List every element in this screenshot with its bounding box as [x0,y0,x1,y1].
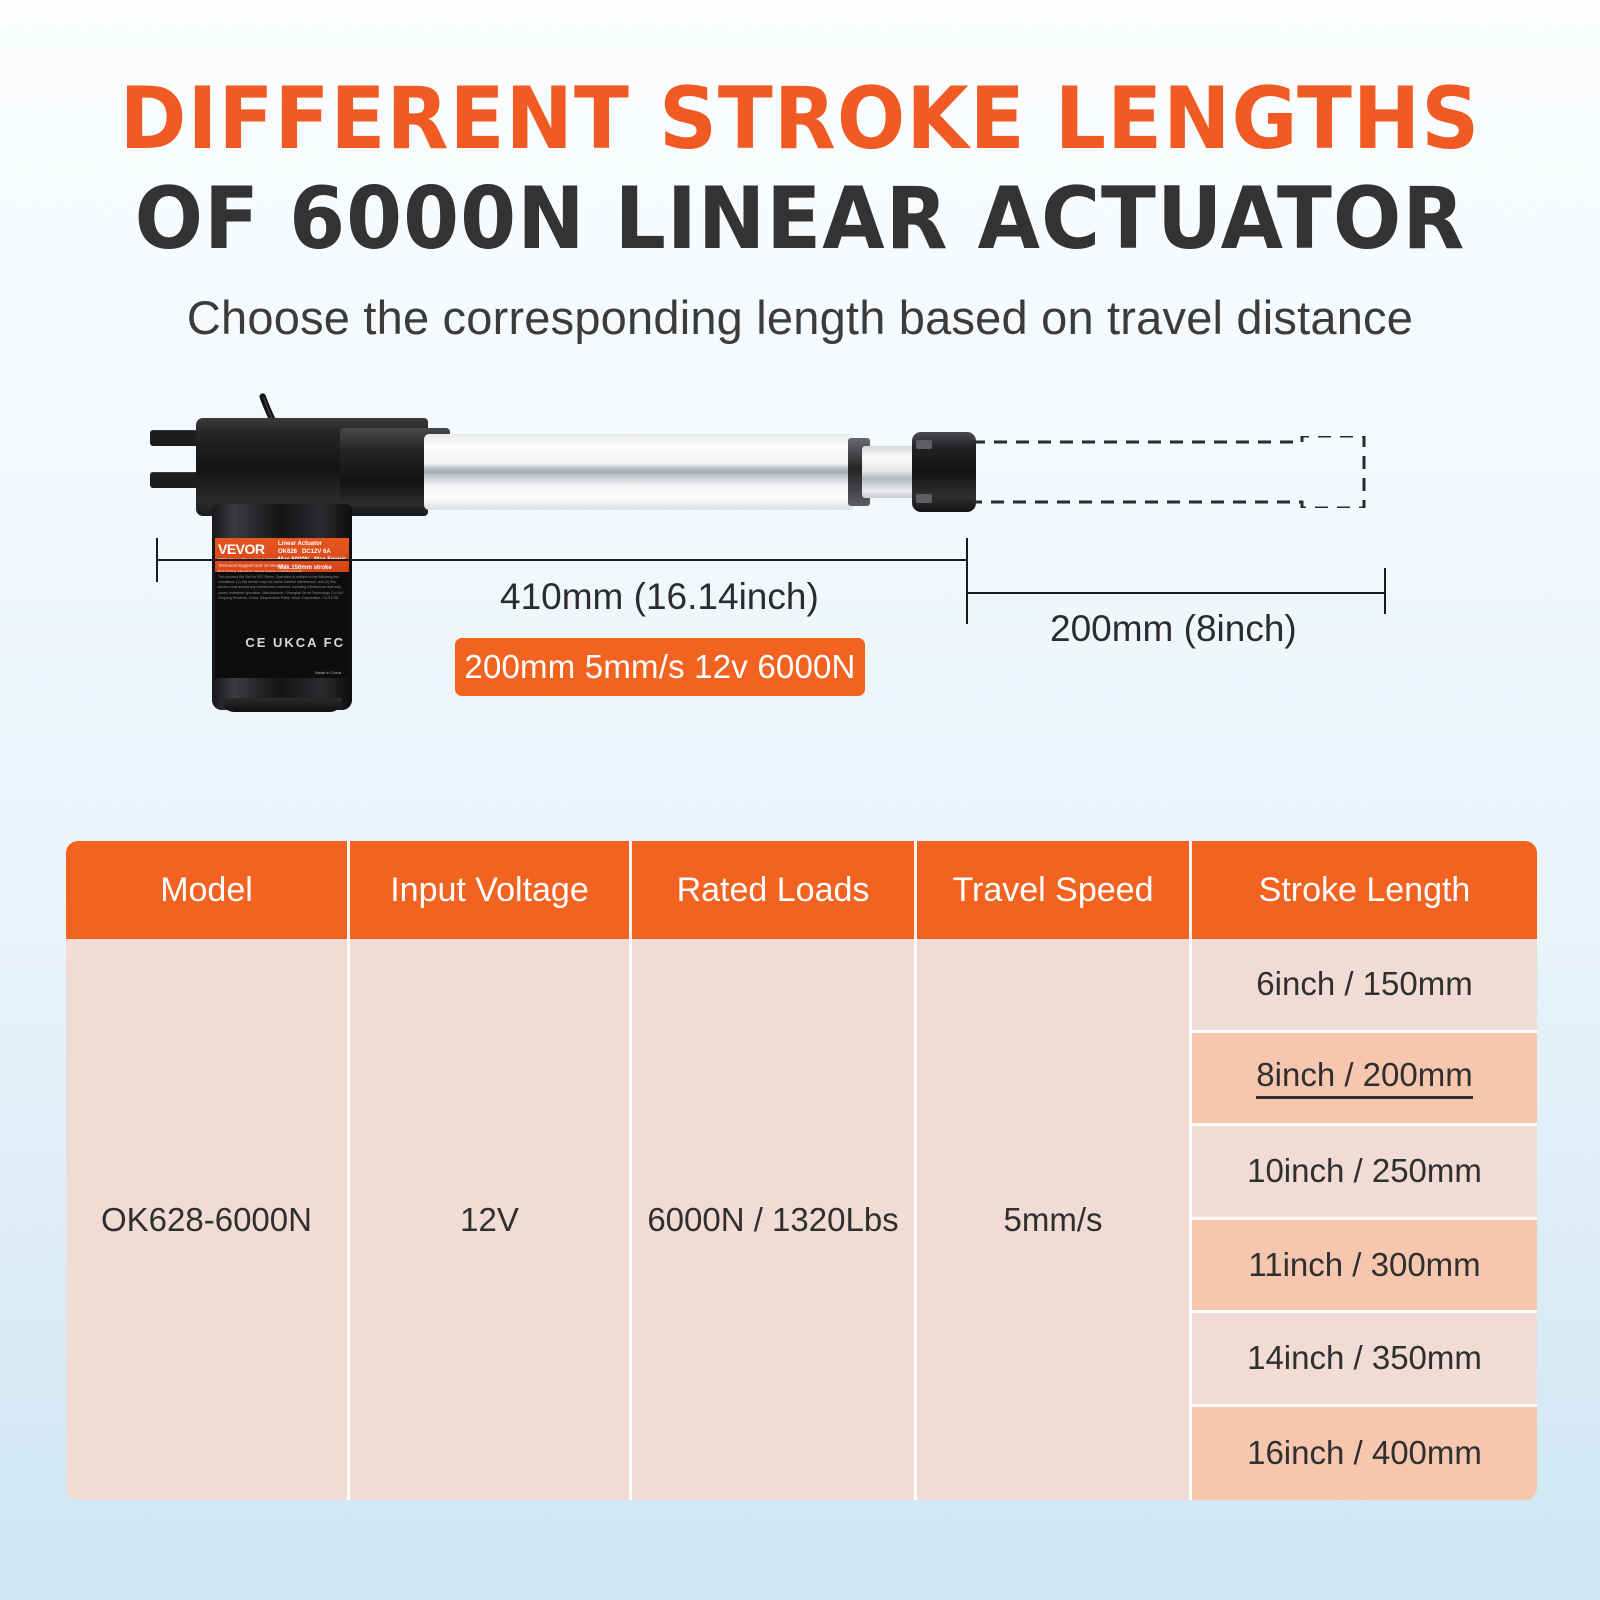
table-header-input-voltage: Input Voltage [350,841,632,939]
motor-end-cap [222,698,342,712]
actuator-tube [424,434,854,510]
table-header-stroke-length: Stroke Length [1192,841,1537,939]
dim-line-410 [156,559,968,561]
dim-label-200: 200mm (8inch) [1050,608,1297,650]
label-fine-print: This product Set Self for IEC Rules. Ope… [218,575,346,601]
dim-label-410: 410mm (16.14inch) [500,576,819,618]
made-in-text: Made in China [315,670,341,675]
specification-table: Model Input Voltage Rated Loads Travel S… [66,841,1537,1500]
page-header: DIFFERENT STROKE LENGTHS OF 6000N LINEAR… [0,0,1600,345]
stroke-option-6inch[interactable]: 6inch / 150mm [1192,939,1537,1033]
cell-model: OK628-6000N [66,939,350,1500]
dim-tick-right-410 [966,538,968,624]
page-title-line1: DIFFERENT STROKE LENGTHS [0,76,1600,162]
end-cap-slot-top [916,440,932,449]
label-orange-band: VEVOR TOP QUALITY & HALF PRICE Technical… [215,538,349,572]
rod-end-cap [912,432,976,512]
stroke-option-14inch[interactable]: 14inch / 350mm [1192,1313,1537,1407]
label-black-band: This product Set Self for IEC Rules. Ope… [215,572,349,678]
product-illustration: VEVOR TOP QUALITY & HALF PRICE Technical… [0,380,1600,760]
extended-stroke-outline [972,436,1372,508]
stroke-length-list: 6inch / 150mm 8inch / 200mm 10inch / 250… [1192,939,1537,1500]
table-body: OK628-6000N 12V 6000N / 1320Lbs 5mm/s 6i… [66,939,1537,1500]
stroke-option-10inch[interactable]: 10inch / 250mm [1192,1126,1537,1220]
cell-travel-speed: 5mm/s [917,939,1192,1500]
stroke-option-16inch[interactable]: 16inch / 400mm [1192,1407,1537,1501]
dim-line-200 [966,592,1386,594]
stroke-option-11inch[interactable]: 11inch / 300mm [1192,1220,1537,1314]
table-header-rated-loads: Rated Loads [632,841,917,939]
cell-input-voltage: 12V [350,939,632,1500]
table-header-row: Model Input Voltage Rated Loads Travel S… [66,841,1537,939]
end-cap-slot-bottom [916,494,932,503]
cell-rated-loads: 6000N / 1320Lbs [632,939,917,1500]
table-header-model: Model [66,841,350,939]
table-header-travel-speed: Travel Speed [917,841,1192,939]
certification-marks: CE UKCA FC [245,635,345,650]
page-subtitle: Choose the corresponding length based on… [0,290,1600,345]
stroke-option-8inch[interactable]: 8inch / 200mm [1192,1033,1537,1127]
page-title-line2: OF 6000N LINEAR ACTUATOR [0,176,1600,262]
dim-tick-right-200 [1384,568,1386,614]
spec-badge: 200mm 5mm/s 12v 6000N [455,638,865,696]
brand-name: VEVOR [218,541,265,557]
